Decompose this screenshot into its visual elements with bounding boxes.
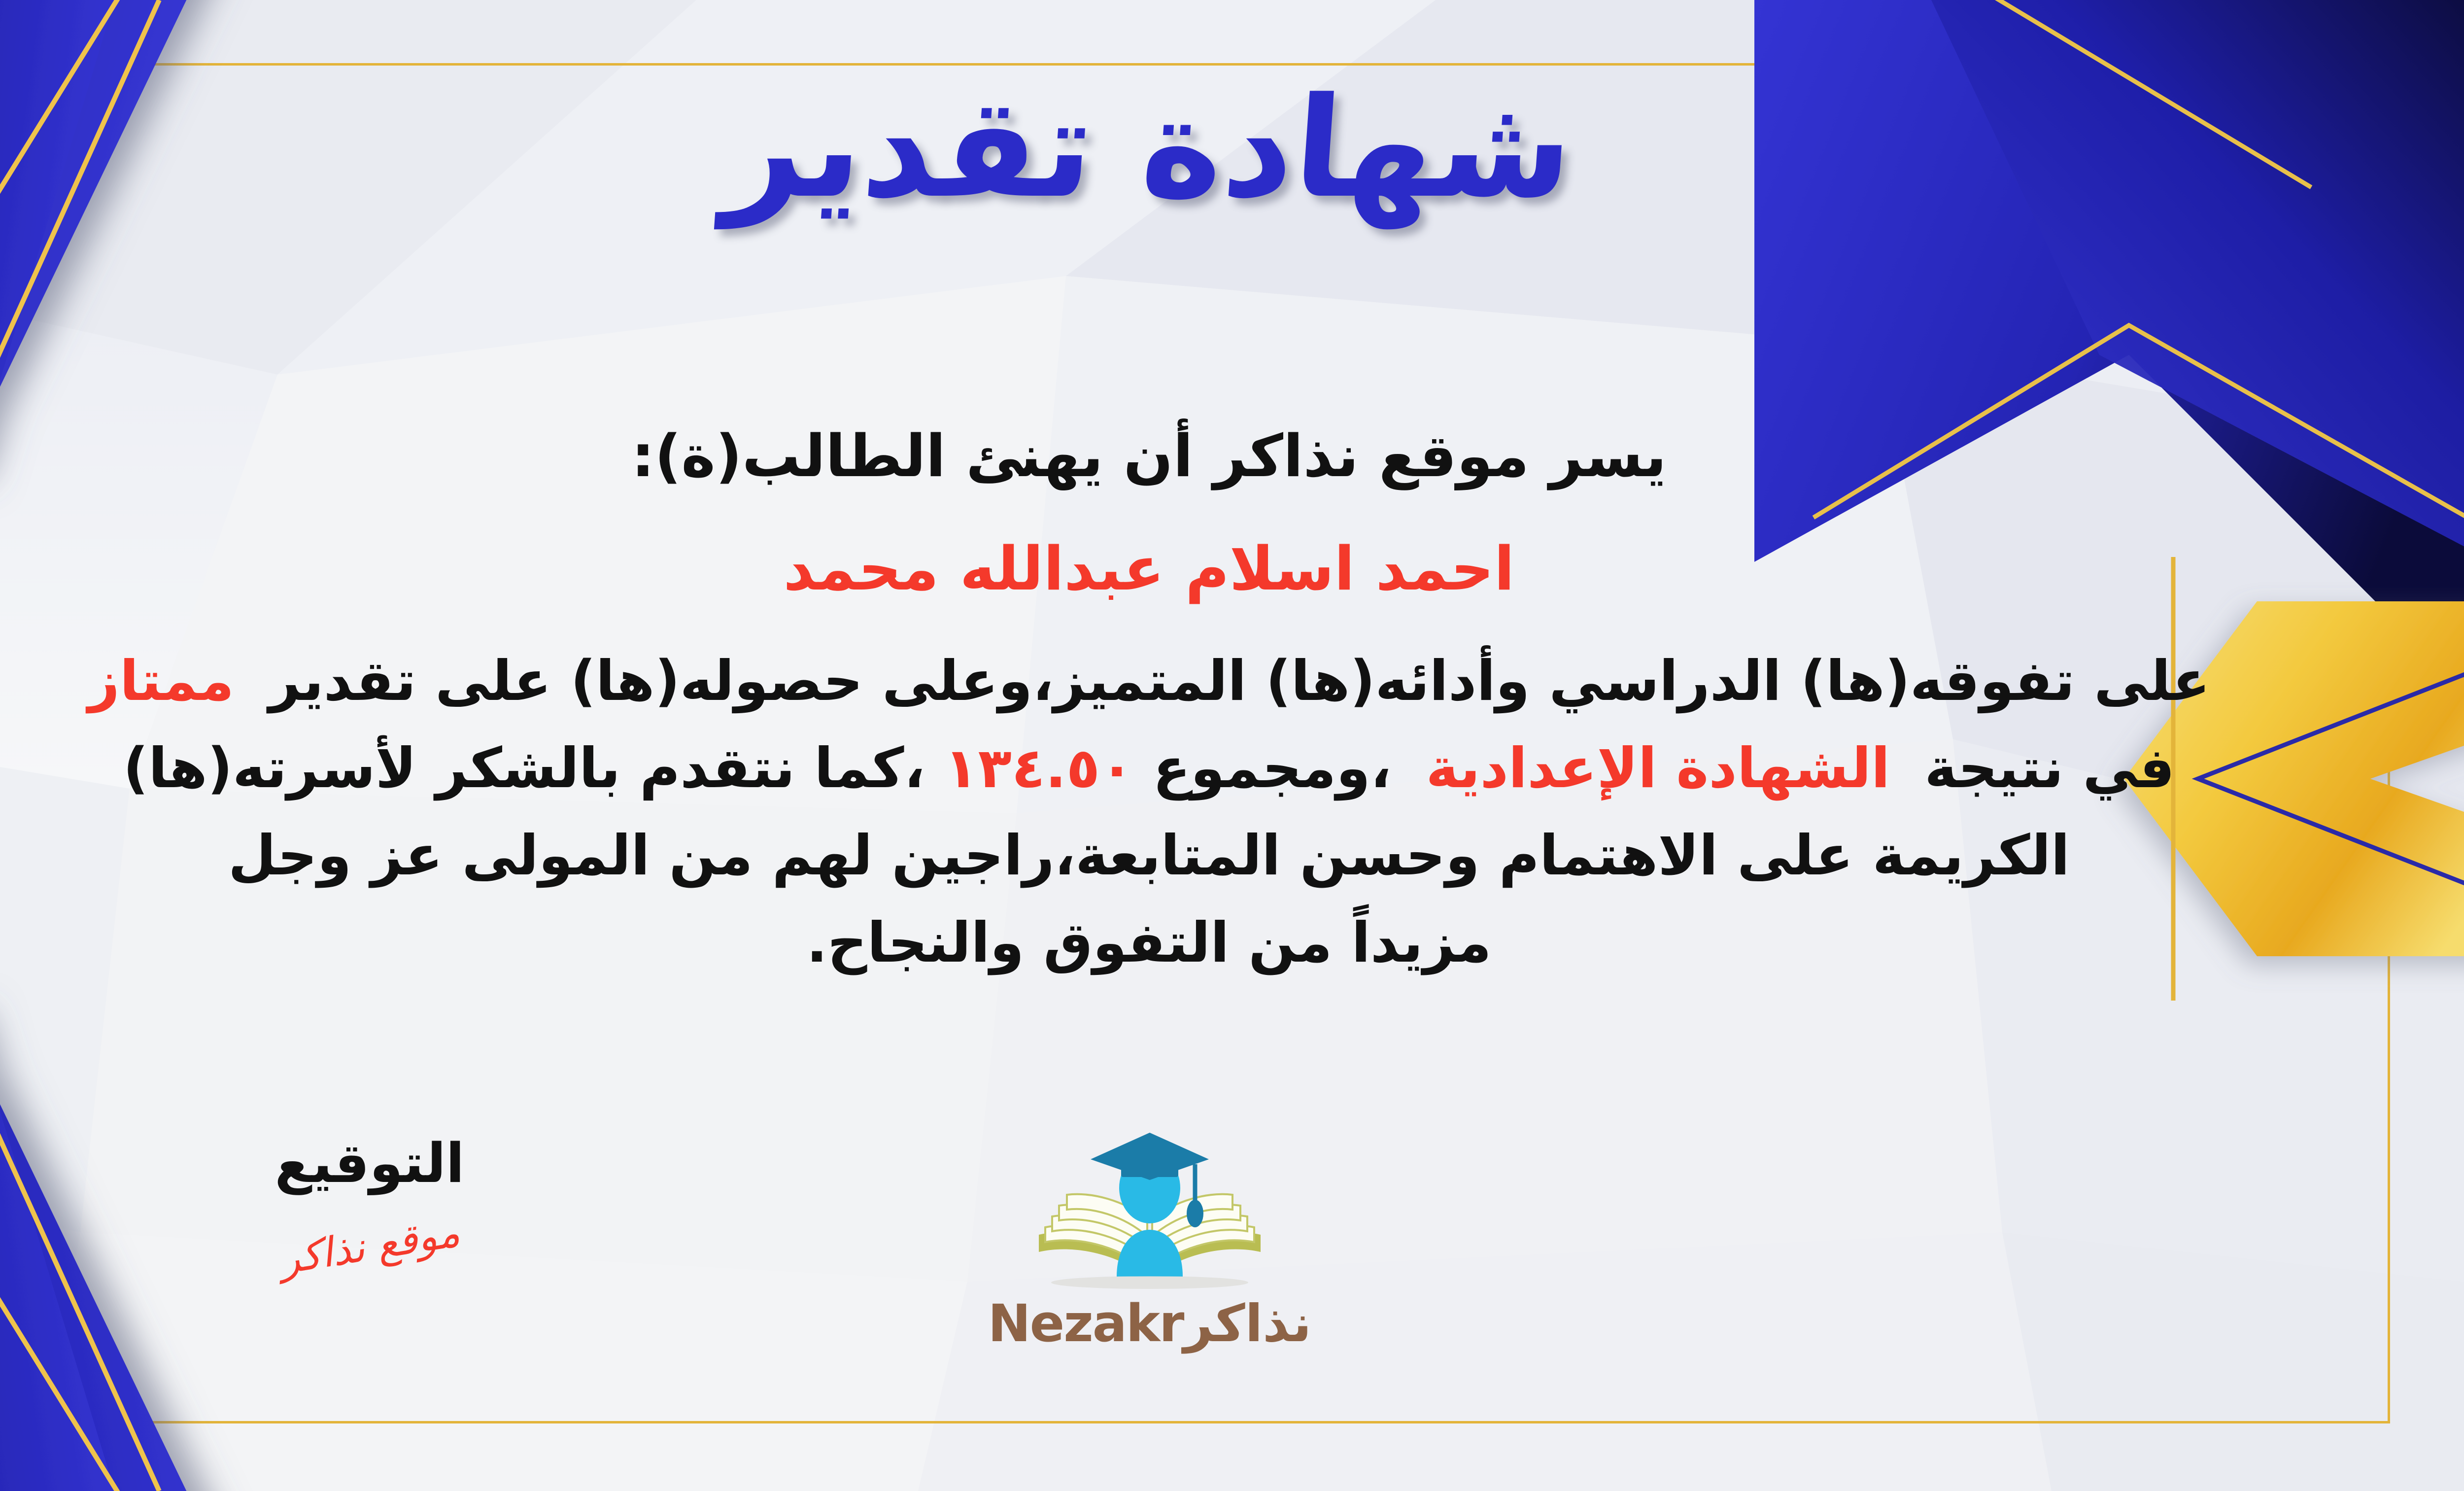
signature-block: التوقيع موقع نذاكر bbox=[192, 1134, 547, 1270]
family-thanks-line: الكريمة على الاهتمام وحسن المتابعة،راجين… bbox=[0, 812, 2365, 900]
exam-name: الشهادة الإعدادية bbox=[1426, 736, 1890, 800]
brand-name: Nezakrنذاكر bbox=[962, 1293, 1337, 1353]
page-title: شهادة تقدير bbox=[719, 69, 1578, 228]
achievement-line: على تفوقه(ها) الدراسي وأدائه(ها) المتميز… bbox=[0, 638, 2365, 725]
certificate-title-area: شهادة تقدير bbox=[0, 69, 2464, 228]
grade-value: ممتاز bbox=[88, 649, 234, 713]
total-score: ١٣٤.٥٠ bbox=[944, 736, 1133, 800]
graduate-book-icon bbox=[1012, 1129, 1288, 1296]
brand-name-latin: Nezakr bbox=[988, 1293, 1184, 1353]
closing-line: مزيداً من التفوق والنجاح. bbox=[0, 900, 2365, 987]
signature-label: التوقيع bbox=[192, 1134, 547, 1193]
certificate-body: يسر موقع نذاكر أن يهنئ الطالب(ة): احمد ا… bbox=[0, 409, 2365, 987]
brand-logo: Nezakrنذاكر bbox=[962, 1129, 1337, 1353]
exam-result-line: في نتيجةالشهادة الإعدادية،ومجموع ١٣٤.٥٠ … bbox=[0, 725, 2365, 812]
certificate-canvas: شهادة تقدير يسر موقع نذاكر أن يهنئ الطال… bbox=[0, 0, 2464, 1491]
total-prefix: ،ومجموع bbox=[1153, 736, 1391, 800]
brand-name-arabic: نذاكر bbox=[1183, 1293, 1311, 1353]
intro-line: يسر موقع نذاكر أن يهنئ الطالب(ة): bbox=[0, 409, 2365, 503]
exam-prefix: في نتيجة bbox=[1924, 736, 2175, 800]
student-name: احمد اسلام عبدالله محمد bbox=[0, 527, 2365, 611]
achievement-text: على تفوقه(ها) الدراسي وأدائه(ها) المتميز… bbox=[269, 649, 2210, 713]
thanks-prefix: ،كما نتقدم بالشكر لأسرته(ها) bbox=[123, 736, 925, 800]
